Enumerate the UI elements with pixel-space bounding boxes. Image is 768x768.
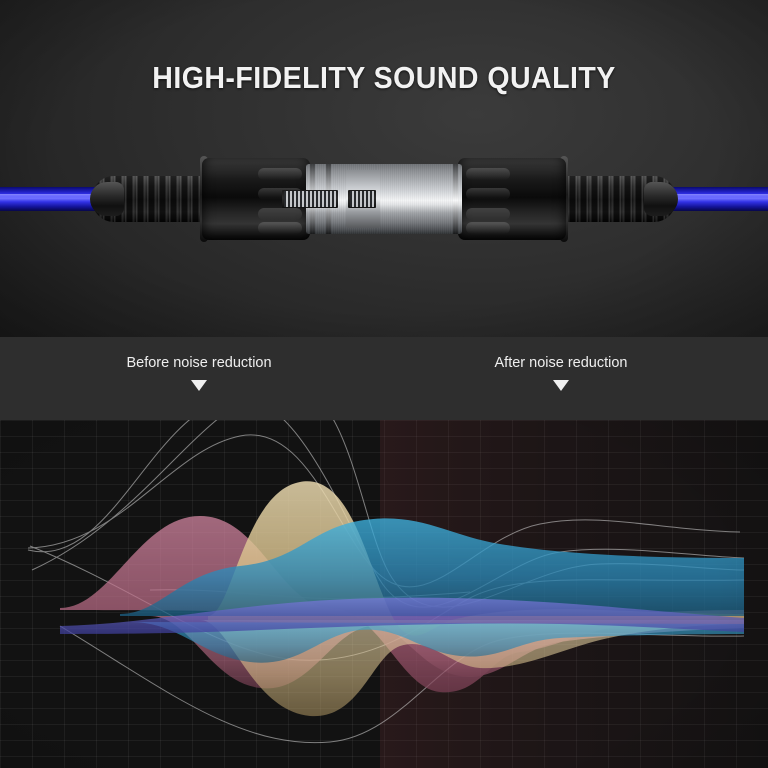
pin-socket-slot [282,190,338,208]
grip-fin [466,222,510,234]
down-triangle-icon [191,380,207,391]
comparison-label-band: Before noise reduction After noise reduc… [0,337,768,420]
page-title: HIGH-FIDELITY SOUND QUALITY [31,60,738,96]
boot-cap [90,182,124,216]
grip-fin [466,188,510,200]
grip-fin [258,208,302,220]
barrel-texture [376,164,462,234]
xlr-female-connector [384,136,768,262]
xlr-cable-assembly [0,136,768,262]
hero-section: HIGH-FIDELITY SOUND QUALITY [0,0,768,337]
grip-fin [258,168,302,180]
waveform-curves [0,420,768,768]
chrome-barrel [376,164,462,234]
barrel-ring [453,164,458,234]
down-triangle-icon [553,380,569,391]
product-feature-banner: HIGH-FIDELITY SOUND QUALITY [0,0,768,768]
grip-fin [258,222,302,234]
pin-socket-slot [348,190,376,208]
connector-grip [458,158,566,240]
boot-cap [644,182,678,216]
before-label: Before noise reduction [126,355,271,371]
grip-fin [466,168,510,180]
waveform-visualization [0,420,768,768]
grip-fin [466,208,510,220]
after-label: After noise reduction [495,355,628,371]
